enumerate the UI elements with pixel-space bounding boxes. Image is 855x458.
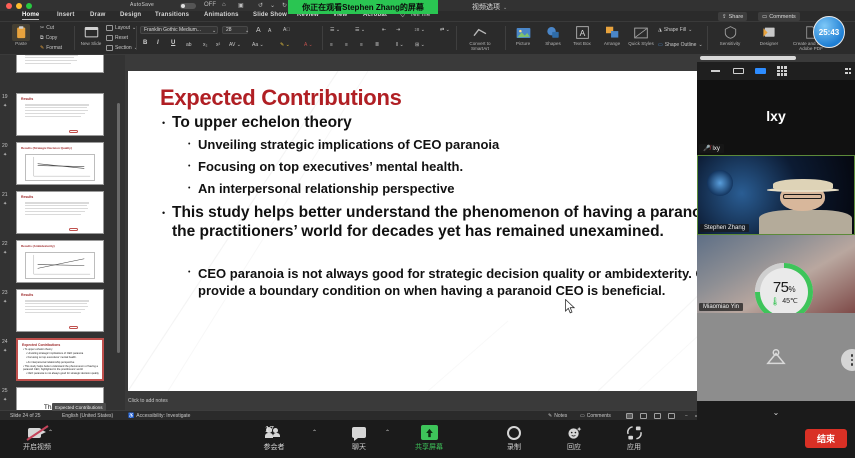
paste-group[interactable]: Paste: [4, 23, 38, 54]
slide-thumbnail-18[interactable]: [16, 55, 104, 73]
window-controls[interactable]: [6, 3, 32, 9]
quick-styles-group[interactable]: Quick Styles: [628, 23, 654, 54]
justify-icon[interactable]: ≣: [375, 42, 379, 48]
reactions-icon: [567, 424, 582, 441]
tab-home[interactable]: Home: [22, 12, 39, 20]
slide-animation-icon: ✦: [3, 348, 7, 354]
quick-styles-label: Quick Styles: [628, 41, 654, 46]
font-name-dropdown-icon[interactable]: ⌄: [212, 28, 216, 34]
share-screen-icon: [421, 424, 438, 441]
copy-button[interactable]: ⧉ Copy: [40, 35, 57, 41]
copy-label: Copy: [46, 35, 58, 41]
reading-view-button[interactable]: [654, 413, 661, 419]
participant-tile-stephen-zhang[interactable]: Stephen Zhang: [697, 155, 855, 235]
italic-button[interactable]: I: [157, 40, 159, 46]
record-label: 录制: [507, 442, 521, 452]
designer-label: Designer: [752, 41, 786, 46]
comments-button-label: Comments: [769, 14, 796, 20]
arrange-group[interactable]: Arrange: [598, 23, 626, 54]
character-spacing-icon[interactable]: AV ⌄: [229, 42, 241, 48]
slide-title: Expected Contributions: [160, 85, 402, 111]
maximize-window-button[interactable]: [26, 3, 32, 9]
normal-view-button[interactable]: [626, 413, 633, 419]
underline-button[interactable]: U: [171, 40, 175, 46]
new-slide-group[interactable]: New Slide: [78, 23, 104, 54]
zoom-panel-collapse-bar[interactable]: ⌄: [697, 404, 855, 420]
slide-thumbnail-24[interactable]: Expected Contributions • To upper echelo…: [16, 338, 104, 381]
increase-indent-icon[interactable]: ⇥: [396, 27, 400, 33]
picture-group[interactable]: Picture: [510, 23, 536, 54]
superscript-icon[interactable]: x²: [216, 42, 220, 48]
participant-tile-empty[interactable]: [697, 313, 855, 401]
language-indicator[interactable]: English (United States): [62, 413, 113, 419]
designer-icon[interactable]: [760, 24, 778, 41]
tab-design[interactable]: Design: [120, 12, 141, 18]
slide-number: 25: [2, 388, 8, 394]
thumb-title: Results: [21, 293, 103, 297]
participant-tile-miaomiao-yin[interactable]: 75% 🌡 45℃ Miaomiao Yin: [697, 235, 855, 313]
zoom-out-button[interactable]: −: [685, 413, 688, 419]
convert-smartart-label: Convert to SmartArt: [460, 41, 500, 51]
participants-count: 17: [265, 425, 274, 434]
thumb-title: Results (Ambidexterity): [21, 244, 103, 248]
slide-animation-icon: ✦: [3, 152, 7, 158]
decrease-indent-icon[interactable]: ⇤: [382, 27, 386, 33]
text-align-vertical-icon[interactable]: ⊞ ⌄: [415, 42, 425, 48]
strip-view-icon[interactable]: [755, 67, 766, 75]
slide-thumbnail-20[interactable]: Results (Strategic Decision Quality): [16, 142, 104, 185]
text-highlight-icon[interactable]: ✎ ⌄: [280, 42, 290, 48]
slide-thumbnail-19[interactable]: Results: [16, 93, 104, 136]
slide-sorter-view-button[interactable]: [640, 413, 647, 419]
share-icon: ⇪: [722, 14, 727, 20]
share-screen-label: 共享屏幕: [415, 442, 443, 452]
autosave-toggle[interactable]: [180, 3, 196, 9]
chevron-down-icon: ⌄: [698, 42, 702, 48]
screen-share-banner: 你正在观看Stephen Zhang的屏幕: [288, 0, 438, 14]
clear-formatting-icon[interactable]: A⃠: [283, 27, 290, 33]
participant-avatar-video: [757, 176, 854, 234]
ribbon-body: Paste ✂ Cut ⧉ Copy ✎ Format New Slide: [0, 22, 855, 55]
record-button[interactable]: 录制: [485, 424, 543, 452]
cut-label: Cut: [46, 25, 54, 31]
home-icon[interactable]: ⌂: [222, 2, 226, 8]
font-size-value: 28: [226, 27, 232, 33]
slide-number: 23: [2, 290, 8, 296]
tab-draw[interactable]: Draw: [90, 12, 105, 18]
notes-placeholder[interactable]: Click to add notes: [128, 398, 168, 404]
battery-temperature: 🌡 45℃: [770, 297, 798, 306]
align-left-icon[interactable]: ≡: [330, 42, 333, 48]
microphone-muted-icon: 🎤̸: [703, 145, 710, 152]
shapes-icon[interactable]: [544, 24, 562, 41]
designer-group[interactable]: Designer: [752, 23, 786, 54]
tab-animations[interactable]: Animations: [204, 12, 239, 18]
new-slide-label: New Slide: [78, 41, 104, 46]
slide-tooltip: Expected Contributions: [52, 403, 106, 411]
start-video-label: 开启视频: [23, 442, 51, 452]
end-meeting-button[interactable]: 结束: [805, 429, 847, 448]
thumb-title: Results (Strategic Decision Quality): [21, 146, 103, 150]
slide-counter: Slide 24 of 25: [10, 413, 41, 419]
slide-number: 19: [2, 94, 8, 100]
camera-off-icon: [765, 347, 787, 372]
shape-outline-button[interactable]: ▭ Shape Outline ⌄: [658, 42, 703, 48]
convert-smartart-group[interactable]: Convert to SmartArt: [460, 23, 500, 54]
undo-caret-icon[interactable]: ⌄: [270, 2, 275, 9]
participants-label: 参会者: [264, 442, 285, 452]
zoom-panel-scroll-indicator[interactable]: [700, 56, 796, 60]
accessibility-status[interactable]: ♿ Accessibility: Investigate: [128, 413, 190, 419]
slide-thumbnail-21[interactable]: Results: [16, 191, 104, 234]
redo-icon[interactable]: ↻: [282, 2, 287, 9]
font-size-dropdown-icon[interactable]: ⌄: [245, 28, 249, 34]
video-options-menu[interactable]: 视频选项⌄: [472, 2, 507, 12]
participant-big-name: lxy: [697, 108, 855, 124]
subscript-icon[interactable]: x₂: [203, 42, 207, 48]
participant-name-badge: 🎤̸ lxy: [699, 144, 724, 153]
columns-icon[interactable]: ‖ ⌄: [396, 42, 404, 48]
screen-root: AutoSave OFF ⌂ ▣ ↺ ⌄ ↻ ⋯ 你正在观看Stephen Zh…: [0, 0, 855, 458]
svg-text:A: A: [579, 28, 585, 38]
shape-fill-button[interactable]: ◮ Shape Fill ⌄: [658, 27, 692, 33]
participant-tile-lxy[interactable]: lxy 🎤̸ lxy: [697, 80, 855, 155]
line-spacing-icon[interactable]: ↕≡ ⌄: [414, 27, 425, 33]
accessibility-icon: ♿: [128, 413, 134, 419]
participants-caret-icon[interactable]: ⌃: [312, 429, 317, 436]
tab-transitions[interactable]: Transitions: [155, 12, 189, 18]
end-meeting-label: 结束: [817, 432, 835, 445]
percent-symbol: %: [789, 285, 796, 294]
slide-number: 24: [2, 339, 8, 345]
notes-label: Notes: [554, 413, 567, 419]
notes-icon: ✎: [548, 413, 552, 419]
strikethrough-icon[interactable]: ab: [186, 42, 192, 48]
slide-bullet-4: An interpersonal relationship perspectiv…: [198, 180, 454, 197]
slide-animation-icon: ✦: [3, 397, 7, 403]
participants-button[interactable]: 参会者 17: [245, 424, 303, 452]
chevron-down-icon[interactable]: ⌄: [773, 408, 780, 417]
reactions-button[interactable]: 回应: [545, 424, 603, 452]
slide-thumbnail-22[interactable]: Results (Ambidexterity): [16, 240, 104, 283]
new-slide-icon[interactable]: [82, 24, 100, 41]
comment-icon: ▭: [762, 14, 767, 20]
decrease-font-size-icon[interactable]: A: [268, 28, 271, 34]
fullscreen-view-icon[interactable]: [845, 67, 851, 75]
chat-label: 聊天: [352, 442, 366, 452]
speaker-view-icon[interactable]: [733, 67, 744, 75]
video-options-caret-icon[interactable]: ⌃: [48, 429, 53, 436]
slideshow-view-button[interactable]: [668, 413, 675, 419]
section-label: Section: [115, 45, 132, 51]
participant-name-badge: Miaomiao Yin: [699, 303, 743, 311]
bullets-icon[interactable]: ☰ ⌄: [330, 27, 340, 33]
thumb-title: Results: [21, 97, 103, 101]
zoom-video-panel: lxy 🎤̸ lxy Stephen Zhang 75%: [697, 62, 855, 420]
sensitivity-label: Sensitivity: [712, 41, 748, 46]
comments-status-label: Comments: [587, 413, 611, 419]
slide-number: 20: [2, 143, 8, 149]
more-options-icon[interactable]: [841, 349, 855, 371]
slide-animation-icon: ✦: [3, 250, 7, 256]
text-box-group[interactable]: A Text Box: [570, 23, 594, 54]
participant-name: Stephen Zhang: [704, 225, 745, 231]
slide-bullet-1: To upper echelon theory: [172, 113, 352, 132]
sensitivity-group[interactable]: Sensitivity: [712, 23, 748, 54]
slide-animation-icon: ✦: [3, 299, 7, 305]
battery-temperature-value: 45℃: [782, 297, 798, 305]
present-icon[interactable]: ▣: [238, 2, 244, 9]
meeting-timer-badge: 25:43: [813, 16, 845, 48]
apps-label: 应用: [627, 442, 641, 452]
section-icon: [106, 45, 113, 51]
record-icon: [507, 424, 521, 441]
chat-button[interactable]: 聊天: [330, 424, 388, 452]
apps-button[interactable]: 应用: [605, 424, 663, 452]
arrange-icon[interactable]: [603, 24, 621, 41]
arrange-label: Arrange: [598, 41, 626, 46]
picture-label: Picture: [510, 41, 536, 46]
layout-label: Layout: [115, 25, 130, 31]
shapes-group[interactable]: Shapes: [540, 23, 566, 54]
chat-icon: [352, 424, 366, 441]
copy-icon: ⧉: [40, 35, 44, 41]
slide-animation-icon: ✦: [3, 103, 7, 109]
camera-off-icon: [28, 424, 47, 441]
accessibility-label: Accessibility: Investigate: [136, 413, 190, 419]
picture-icon[interactable]: [514, 24, 532, 41]
apps-icon: [627, 424, 642, 441]
text-direction-icon[interactable]: ⇄ ⌄: [440, 27, 450, 33]
numbering-icon[interactable]: ☰ ⌄: [355, 27, 365, 33]
autosave-label: AutoSave: [130, 2, 154, 8]
reactions-label: 回应: [567, 442, 581, 452]
shape-fill-label: Shape Fill: [664, 27, 686, 33]
cut-button[interactable]: ✂ Cut: [40, 25, 54, 31]
font-name-input[interactable]: Franklin Gothic Medium...: [140, 26, 218, 34]
participant-name-badge: Stephen Zhang: [700, 224, 749, 232]
bullet-marker: •: [162, 208, 165, 218]
reset-icon: [106, 35, 113, 41]
comments-status-button[interactable]: ▭ Comments: [580, 413, 611, 419]
tab-insert[interactable]: Insert: [57, 12, 75, 18]
share-button[interactable]: ⇪ Share: [718, 12, 747, 21]
slide-thumbnail-23[interactable]: Results: [16, 289, 104, 332]
paste-label: Paste: [4, 41, 38, 46]
close-window-button[interactable]: [6, 3, 12, 9]
thumbnail-scrollbar[interactable]: [117, 103, 120, 353]
format-painter-button[interactable]: ✎ Format: [40, 45, 62, 51]
undo-icon[interactable]: ↺: [258, 2, 263, 9]
slide-thumbnail-pane[interactable]: 19 ✦ Results 20 ✦ Results: [0, 55, 125, 410]
tab-slide-show[interactable]: Slide Show: [253, 12, 287, 18]
sensitivity-icon[interactable]: [721, 24, 739, 41]
text-box-icon[interactable]: A: [573, 24, 591, 41]
minimize-window-button[interactable]: [16, 3, 22, 9]
battery-status-overlay: 75% 🌡 45℃: [755, 263, 813, 313]
layout-button[interactable]: Layout ⌄: [106, 25, 136, 31]
start-video-button[interactable]: 开启视频: [8, 424, 66, 452]
chat-caret-icon[interactable]: ⌃: [385, 429, 390, 436]
shape-fill-icon: ◮: [658, 27, 662, 33]
comment-icon: ▭: [580, 413, 585, 419]
zoom-meeting-toolbar: 开启视频 ⌃ 参会者 17 ⌃ 聊天 ⌃ 共享屏幕: [0, 420, 855, 458]
slide-animation-icon: ✦: [3, 201, 7, 207]
format-label: Format: [46, 45, 62, 51]
autosave-state-label: OFF: [204, 2, 216, 8]
chevron-down-icon: ⌄: [503, 5, 507, 11]
slide-bullet-2: Unveiling strategic implications of CEO …: [198, 136, 499, 153]
thumb-title: Results: [21, 195, 103, 199]
share-button-label: Share: [729, 14, 744, 20]
battery-percent: 75%: [773, 279, 795, 296]
shape-outline-icon: ▭: [658, 42, 663, 48]
bullet-marker: •: [188, 269, 190, 276]
section-button[interactable]: Section ⌄: [106, 45, 138, 51]
video-options-label: 视频选项: [472, 4, 500, 11]
convert-smartart-icon[interactable]: [471, 24, 489, 41]
slide-number: 22: [2, 241, 8, 247]
shapes-label: Shapes: [540, 41, 566, 46]
bullet-marker: •: [162, 118, 165, 128]
participant-name: Miaomiao Yin: [703, 304, 739, 310]
comments-button[interactable]: ▭ Comments: [758, 12, 800, 21]
quick-styles-icon[interactable]: [632, 24, 650, 41]
bold-button[interactable]: B: [143, 40, 147, 46]
align-center-icon[interactable]: ≡: [345, 42, 348, 48]
shape-outline-label: Shape Outline: [665, 42, 697, 48]
slide-bullet-3: Focusing on top executives’ mental healt…: [198, 158, 463, 175]
reset-button[interactable]: Reset: [106, 35, 128, 41]
thumb-title: Expected Contributions: [22, 343, 102, 347]
layout-icon: [106, 25, 113, 31]
change-case-icon[interactable]: Aa ⌄: [252, 42, 264, 48]
bullet-marker: •: [188, 185, 190, 192]
zoom-view-toolbar: [697, 62, 855, 80]
increase-font-size-icon[interactable]: A: [256, 27, 261, 34]
reset-label: Reset: [115, 35, 128, 41]
scissors-icon: ✂: [40, 25, 44, 31]
font-color-icon[interactable]: A ⌄: [304, 42, 313, 48]
paintbrush-icon: ✎: [40, 45, 44, 51]
gallery-view-icon[interactable]: [777, 67, 787, 75]
minimize-view-icon[interactable]: [711, 67, 720, 75]
battery-percent-value: 75: [773, 279, 789, 296]
thermometer-icon: 🌡: [770, 297, 780, 306]
notes-button[interactable]: ✎ Notes: [548, 413, 567, 419]
participant-name: lxy: [712, 146, 719, 152]
text-box-label: Text Box: [570, 41, 594, 46]
font-name-value: Franklin Gothic Medium...: [144, 27, 201, 33]
chevron-down-icon: ⌄: [688, 27, 692, 33]
paste-icon[interactable]: [12, 24, 30, 41]
share-screen-button[interactable]: 共享屏幕: [400, 424, 458, 452]
bullet-marker: •: [188, 163, 190, 170]
align-right-icon[interactable]: ≡: [360, 42, 363, 48]
bullet-marker: •: [188, 141, 190, 148]
slide-number: 21: [2, 192, 8, 198]
